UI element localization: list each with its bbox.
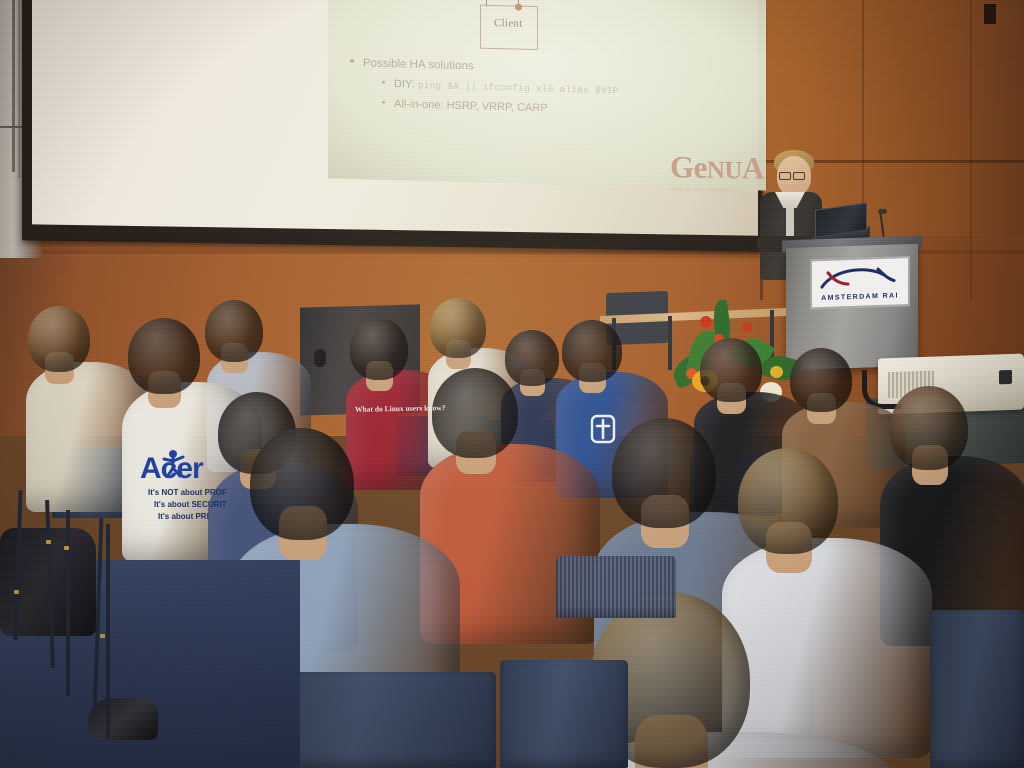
genua-g: Ge: [670, 149, 707, 185]
audience-member-head: [790, 348, 852, 412]
wall-fixture: [984, 4, 996, 24]
wall-seam: [970, 0, 972, 300]
audience-member-head: [432, 368, 518, 458]
podium-sign: AMSTERDAM RAI: [810, 256, 910, 309]
door-jamb: [18, 0, 20, 178]
amsterdam-rai-swoosh-icon: [818, 262, 902, 293]
chair[interactable]: [500, 660, 628, 768]
glasses-icon: [793, 172, 805, 180]
audience-member-head: [28, 306, 90, 372]
genua-nu: NU: [707, 157, 742, 185]
audience-member-torso: [722, 538, 932, 758]
speaker-cone-icon: [314, 349, 326, 367]
audience-member-head: [738, 448, 838, 554]
audience-member-head: [350, 318, 408, 380]
acer-line-1: It's NOT about PROF: [148, 488, 227, 497]
shoe: [88, 698, 158, 740]
podium-sign-text: AMSTERDAM RAI: [812, 292, 908, 302]
presenter-laptop: [815, 206, 867, 242]
table-leg: [668, 316, 672, 370]
audience-member-head: [612, 418, 716, 528]
acer-line-3: It's about PRI: [158, 512, 209, 521]
red-tshirt-print: What do Linux users know?: [355, 403, 446, 414]
audience-member-head: [562, 320, 622, 382]
projector-port: [999, 370, 1012, 384]
projection-screen-surface: Client MAC B Possible HA solutions DIY: …: [32, 0, 758, 236]
microphone-head-icon: [878, 209, 887, 214]
genua-wordmark: GeNUA: [670, 149, 764, 187]
blue-shirt-crest-icon: [590, 412, 616, 444]
audience-member-head: [128, 318, 200, 394]
conference-photo-scene: Client MAC B Possible HA solutions DIY: …: [0, 0, 1024, 768]
chair[interactable]: [930, 610, 1024, 768]
genua-logo: GeNUA HA&LB with OpenBSD - p.: [670, 149, 764, 195]
audience-member-head: [890, 386, 968, 470]
audience-member-head: [430, 298, 486, 358]
glasses-icon: [779, 172, 791, 180]
chair-leg: [66, 510, 70, 696]
door-jamb: [12, 0, 15, 172]
chair-leg: [106, 524, 110, 738]
acer-line-2: It's about SECURIT: [154, 500, 227, 509]
projection-screen-frame: Client MAC B Possible HA solutions DIY: …: [22, 0, 762, 252]
chair-mesh-back[interactable]: [556, 556, 676, 618]
audience-member-head: [205, 300, 263, 362]
audience-member-head: [700, 338, 762, 402]
audience-member-head: [505, 330, 559, 386]
acer-figure-icon: [160, 448, 186, 478]
audience-member-head: [250, 428, 354, 540]
